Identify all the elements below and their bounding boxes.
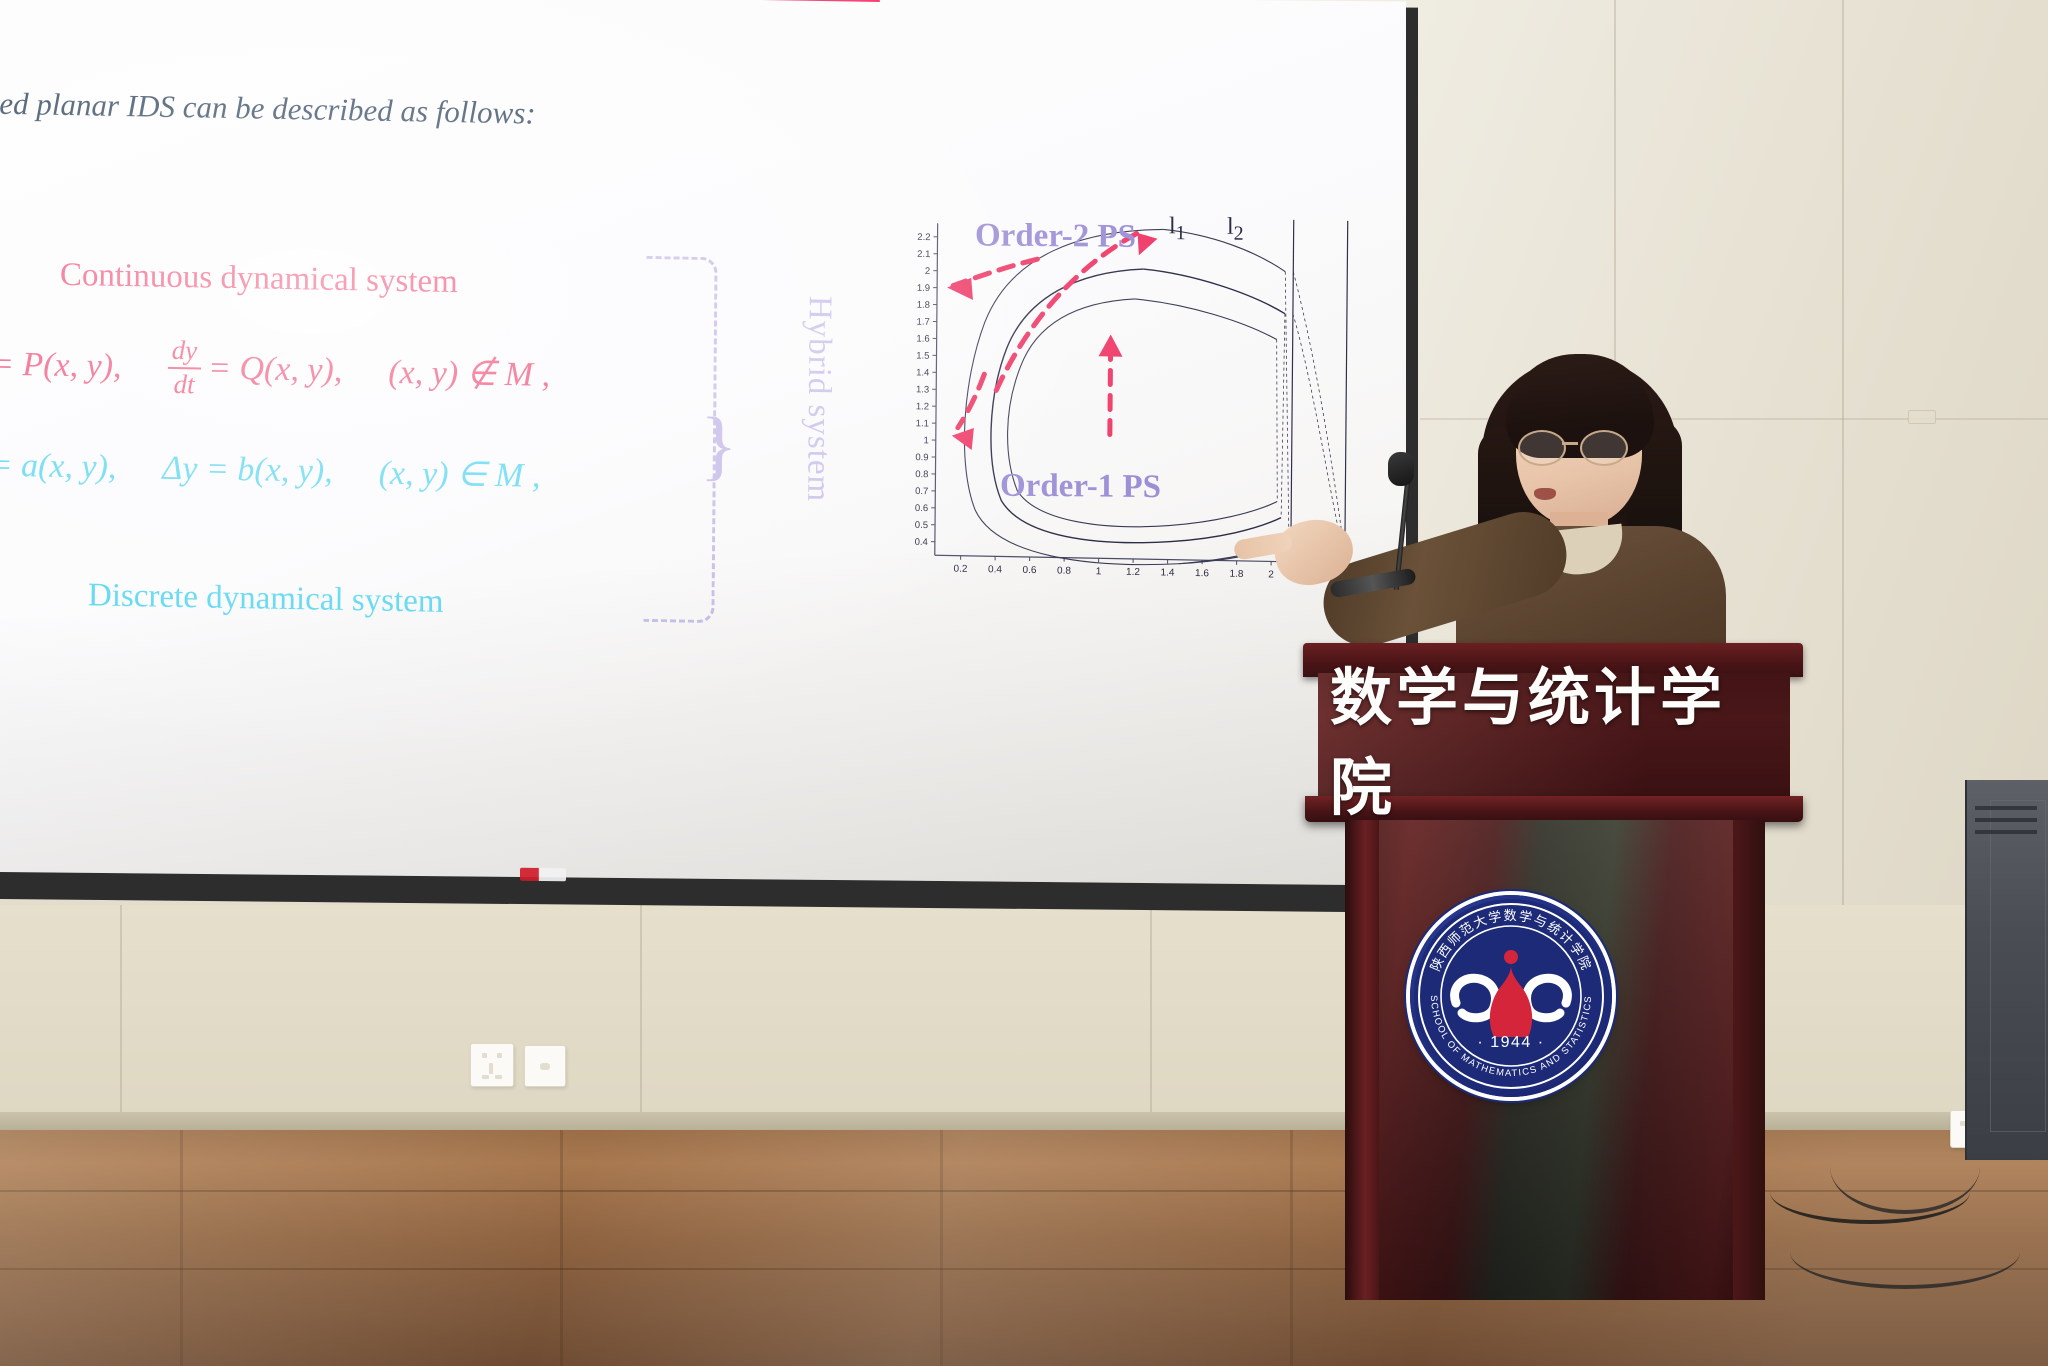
discrete-system-label: Discrete dynamical system (88, 577, 444, 621)
presentation-slide: ndent impulsiv y lized planar IDS can be… (0, 0, 1406, 885)
arrowhead (1099, 334, 1123, 356)
impulse-line-l1-label: l1 (1169, 213, 1186, 245)
inner-impulse-line (1275, 340, 1278, 502)
rack-door[interactable] (1990, 800, 2046, 1132)
rack-vent (1975, 830, 2037, 834)
svg-text:1.2: 1.2 (1126, 567, 1140, 578)
svg-text:0.6: 0.6 (1023, 565, 1037, 576)
svg-text:0.5: 0.5 (915, 520, 928, 531)
slide-subtitle: lized planar IDS can be described as fol… (0, 85, 536, 131)
rack-vent (1975, 818, 2037, 822)
order-1-ps-label: Order-1 PS (1000, 468, 1161, 507)
dy-dt-fraction: dy dt (167, 337, 201, 399)
wall-switch[interactable] (524, 1045, 566, 1087)
rack-vent (1975, 806, 2037, 810)
projector-brand-logo (520, 868, 566, 881)
svg-text:2: 2 (1268, 569, 1274, 580)
lecture-hall-photo: ndent impulsiv y lized planar IDS can be… (0, 0, 2048, 1366)
svg-text:1.2: 1.2 (916, 401, 929, 412)
floor-cable (1830, 1120, 1980, 1214)
svg-text:1.8: 1.8 (1230, 569, 1244, 580)
hybrid-system-label: Hybrid system (799, 296, 838, 503)
svg-text:2.1: 2.1 (917, 249, 930, 260)
wall-socket[interactable] (470, 1043, 514, 1087)
glasses (1518, 430, 1642, 464)
floor-cable (1790, 1215, 2020, 1289)
projector-screen: ndent impulsiv y lized planar IDS can be… (0, 0, 1406, 885)
svg-text:1: 1 (923, 435, 928, 446)
slide-title-band (0, 0, 880, 2)
middle-impulse-line (1281, 314, 1285, 518)
svg-text:1.7: 1.7 (917, 317, 930, 328)
continuous-equation: x t = P(x, y), dy dt = Q(x, y), (0, 333, 550, 405)
school-emblem: 陕西师范大学数学与统计学院 SCHOOL OF MATHEMATICS AND … (1410, 895, 1612, 1097)
wall-panel-seam (1842, 0, 1844, 905)
discrete-condition: (x, y) ∈ M , (379, 453, 541, 496)
discrete-equation: x = a(x, y), Δy = b(x, y), (x, y) ∈ M , (0, 445, 541, 496)
svg-text:0.2: 0.2 (954, 564, 968, 575)
frac-denominator: dt (170, 370, 199, 398)
impulse-line-l1 (1291, 220, 1294, 562)
svg-text:0.9: 0.9 (915, 452, 928, 463)
svg-text:1.9: 1.9 (917, 283, 930, 294)
arrowhead (952, 428, 974, 450)
microphone-head (1388, 452, 1414, 486)
emblem-year: · 1944 · (1477, 1034, 1544, 1051)
svg-text:1: 1 (1096, 566, 1102, 577)
svg-text:1.6: 1.6 (1195, 568, 1209, 579)
frac-numerator: dy (168, 337, 202, 365)
svg-text:1.8: 1.8 (917, 300, 930, 311)
order-2-ps-label: Order-2 PS (975, 217, 1136, 256)
wall-panel-seam (120, 905, 122, 1130)
podium-left-edge (1345, 820, 1379, 1300)
continuous-condition: (x, y) ∉ M , (388, 351, 550, 394)
svg-text:0.4: 0.4 (988, 564, 1002, 575)
outer-impulse-line (1283, 272, 1291, 542)
curly-brace-glyph: } (700, 400, 738, 491)
wall-panel-seam (640, 905, 642, 1130)
impulse-line-l2 (1345, 221, 1348, 563)
impulse-line-l2-label: l2 (1227, 214, 1244, 246)
svg-text:0.6: 0.6 (915, 503, 928, 514)
wall-panel-seam (1150, 905, 1152, 1130)
svg-text:0.4: 0.4 (915, 537, 928, 548)
svg-text:1.6: 1.6 (916, 334, 929, 345)
discrete-dy: Δy = b(x, y), (162, 450, 333, 491)
mouth (1534, 488, 1556, 500)
svg-text:1.1: 1.1 (916, 418, 929, 429)
equation-rhs-q: = Q(x, y), (208, 349, 343, 389)
order2-arrow-down-left (958, 374, 984, 428)
equation-rhs-p: = P(x, y), (0, 345, 122, 385)
svg-text:1.4: 1.4 (1161, 567, 1175, 578)
continuous-system-label: Continuous dynamical system (60, 257, 458, 301)
impulse-map-curve (1291, 314, 1343, 541)
svg-text:0.7: 0.7 (915, 486, 928, 497)
svg-text:0.8: 0.8 (915, 469, 928, 480)
lens-right (1580, 430, 1628, 466)
orbit-outer (963, 226, 1291, 567)
impulse-map-curve (1291, 272, 1345, 541)
podium-right-edge (1733, 820, 1765, 1300)
order1-arrow-up (1110, 348, 1111, 434)
glasses-bridge (1562, 442, 1578, 445)
podium-institution-name: 数学与统计学院 (1330, 683, 1782, 791)
svg-text:1.4: 1.4 (916, 367, 929, 378)
svg-text:2.2: 2.2 (917, 232, 930, 243)
svg-text:0.8: 0.8 (1057, 566, 1071, 577)
svg-text:1.3: 1.3 (916, 384, 929, 395)
wall-plate (1908, 410, 1936, 424)
svg-text:1.5: 1.5 (916, 350, 929, 361)
discrete-dx: x = a(x, y), (0, 446, 117, 487)
svg-text:2: 2 (925, 266, 930, 277)
lens-left (1518, 430, 1566, 466)
